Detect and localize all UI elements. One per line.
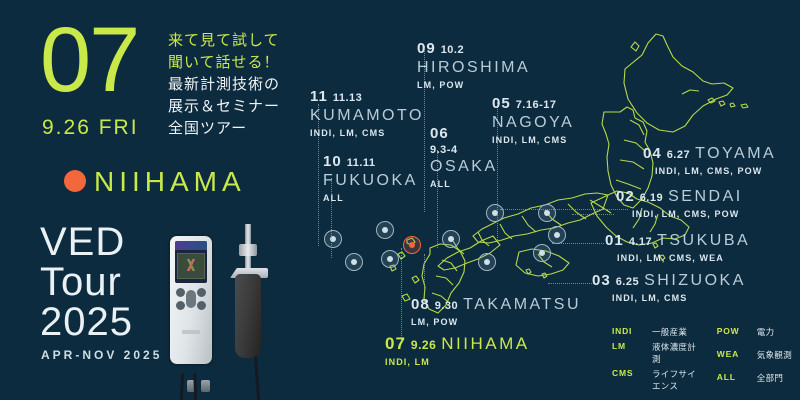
legend-value-wea: 気象観測 [757,349,792,369]
leader-takamatsu [424,254,425,302]
legend-key-pow: POW [717,326,751,346]
stop-label-shizuoka[interactable]: 03 6.25 SHIZUOKA INDI, LM, CMS [592,272,746,303]
location-dot-icon [64,170,86,192]
legend-column-left: INDI 一般産業 LM 液体濃度計測 CMS ライフサイエンス [612,326,699,392]
handheld-meter-icon [170,236,212,364]
legend-value-all: 全部門 [757,372,792,392]
stop-no-takamatsu: 08 [411,296,430,313]
legend-value-pow: 電力 [757,326,792,346]
legend-key-lm: LM [612,341,646,365]
map-marker-toyama[interactable] [486,204,504,222]
map-marker-shizuoka[interactable] [533,244,551,262]
stop-label-takamatsu[interactable]: 08 9.30 TAKAMATSU LM, POW [411,296,581,327]
catch-line-2: 聞いて話せる！ [168,52,280,74]
map-marker-sendai[interactable] [538,204,556,222]
stop-city-fukuoka: FUKUOKA [323,172,418,190]
map-marker-takamatsu[interactable] [381,250,399,268]
device-screen [175,241,207,283]
leader-niihama [401,248,402,340]
leader-shizuoka [548,283,596,284]
stop-no-osaka: 06 [430,125,449,142]
legend-key-indi: INDI [612,326,646,338]
map-marker-nagoya[interactable] [478,253,496,271]
catch-copy: 来て見て試して 聞いて話せる！ 最新計測技術の 展示＆セミナー 全国ツアー [168,30,280,140]
leader-tsukuba [552,243,604,244]
legend: INDI 一般産業 LM 液体濃度計測 CMS ライフサイエンス POW 電力 … [612,326,792,392]
map-marker-hiroshima[interactable] [376,221,394,239]
stop-tags-tsukuba: INDI, LM, CMS, WEA [617,253,750,263]
stop-tags-fukuoka: ALL [323,193,418,203]
stop-no-fukuoka: 10 [323,153,342,170]
legend-column-right: POW 電力 WEA 気象観測 ALL 全部門 [717,326,792,392]
stop-label-fukuoka[interactable]: 10 11.11 FUKUOKA ALL [323,153,418,203]
map-marker-fukuoka[interactable] [324,230,342,248]
stop-date-shizuoka: 6.25 [616,276,639,288]
stop-city-toyama: TOYAMA [695,145,776,163]
stop-tags-nagoya: INDI, LM, CMS [492,135,574,145]
event-date: 9.26 FRI [42,116,139,140]
stop-date-fukuoka: 11.11 [347,157,376,169]
stop-date-kumamoto: 11.13 [333,92,362,104]
catch-line-3: 最新計測技術の [168,74,280,96]
stop-city-niihama: NIIHAMA [441,334,529,354]
stop-no-tsukuba: 01 [605,232,624,249]
map-marker-osaka[interactable] [442,230,460,248]
stop-city-hiroshima: HIROSHIMA [417,59,530,77]
stop-no-kumamoto: 11 [310,88,328,105]
catch-line-1: 来て見て試して [168,30,280,52]
stop-city-tsukuba: TSUKUBA [657,232,750,250]
legend-value-indi: 一般産業 [652,326,699,338]
stop-date-toyama: 6.27 [667,149,690,161]
measurement-probe-icon [235,274,261,358]
stop-date-hiroshima: 10.2 [441,44,464,56]
stop-label-niihama[interactable]: 07 9.26 NIIHAMA INDI, LM [385,334,530,367]
catch-line-4: 展示＆セミナー [168,96,280,118]
stop-city-takamatsu: TAKAMATSU [463,296,581,314]
brand-period: APR-NOV 2025 [41,348,162,362]
stop-city-osaka: OSAKA [430,158,498,176]
brand-title-line-3: 2025 [40,302,133,342]
stop-label-nagoya[interactable]: 05 7.16-17 NAGOYA INDI, LM, CMS [492,95,574,145]
map-marker-niihama[interactable] [403,236,421,254]
stop-tags-takamatsu: LM, POW [411,317,581,327]
brand-title-line-1: VED [40,222,133,262]
legend-key-cms: CMS [612,368,646,392]
legend-key-all: ALL [717,372,751,392]
stop-label-tsukuba[interactable]: 01 4.17 TSUKUBA INDI, LM, CMS, WEA [605,232,750,263]
stop-label-sendai[interactable]: 02 6.19 SENDAI INDI, LM, CMS, POW [616,188,743,219]
stop-no-niihama: 07 [385,334,406,354]
probe-nut [239,244,257,256]
legend-value-lm: 液体濃度計測 [652,341,699,365]
stop-tags-osaka: ALL [430,179,498,189]
stop-tags-hiroshima: LM, POW [417,80,530,90]
map-marker-kumamoto[interactable] [345,253,363,271]
stop-date-takamatsu: 9.30 [435,300,458,312]
product-image [160,218,295,400]
stop-city-nagoya: NAGOYA [492,114,574,132]
device-keypad [176,288,206,310]
stop-no-hiroshima: 09 [417,40,436,57]
stop-no-toyama: 04 [643,145,662,162]
legend-key-wea: WEA [717,349,751,369]
event-number: 07 [40,14,138,106]
brand-title: VED Tour 2025 [40,222,133,342]
stop-city-kumamoto: KUMAMOTO [310,107,424,125]
map-marker-tsukuba[interactable] [548,226,566,244]
header-city-name: NIIHAMA [94,166,246,198]
stop-date-niihama: 9.26 [411,338,436,352]
stop-no-shizuoka: 03 [592,272,611,289]
stop-city-sendai: SENDAI [668,188,743,206]
leader-sendai [572,214,614,215]
stop-date-nagoya: 7.16-17 [516,99,557,111]
stop-date-osaka: 9.3-4 [430,144,498,156]
stop-tags-niihama: INDI, LM [385,357,530,367]
stop-no-nagoya: 05 [492,95,511,112]
catch-line-5: 全国ツアー [168,118,280,140]
stop-label-toyama[interactable]: 04 6.27 TOYAMA INDI, LM, CMS, POW [643,145,776,176]
stop-date-tsukuba: 4.17 [629,236,652,248]
stop-label-osaka[interactable]: 06 9.3-4 OSAKA ALL [430,125,498,189]
stop-label-kumamoto[interactable]: 11 11.13 KUMAMOTO INDI, LM, CMS [310,88,424,138]
legend-value-cms: ライフサイエンス [652,368,699,392]
stop-tags-sendai: INDI, LM, CMS, POW [632,209,743,219]
stop-no-sendai: 02 [616,188,635,205]
stop-date-sendai: 6.19 [640,192,663,204]
stop-tags-toyama: INDI, LM, CMS, POW [655,166,776,176]
brand-title-line-2: Tour [40,262,133,302]
stop-tags-shizuoka: INDI, LM, CMS [612,293,746,303]
stop-label-hiroshima[interactable]: 09 10.2 HIROSHIMA LM, POW [417,40,530,90]
stop-city-shizuoka: SHIZUOKA [644,272,746,290]
stop-tags-kumamoto: INDI, LM, CMS [310,128,424,138]
leader-toyama [500,209,628,210]
poster-canvas: 07 9.26 FRI 来て見て試して 聞いて話せる！ 最新計測技術の 展示＆セ… [0,0,800,400]
